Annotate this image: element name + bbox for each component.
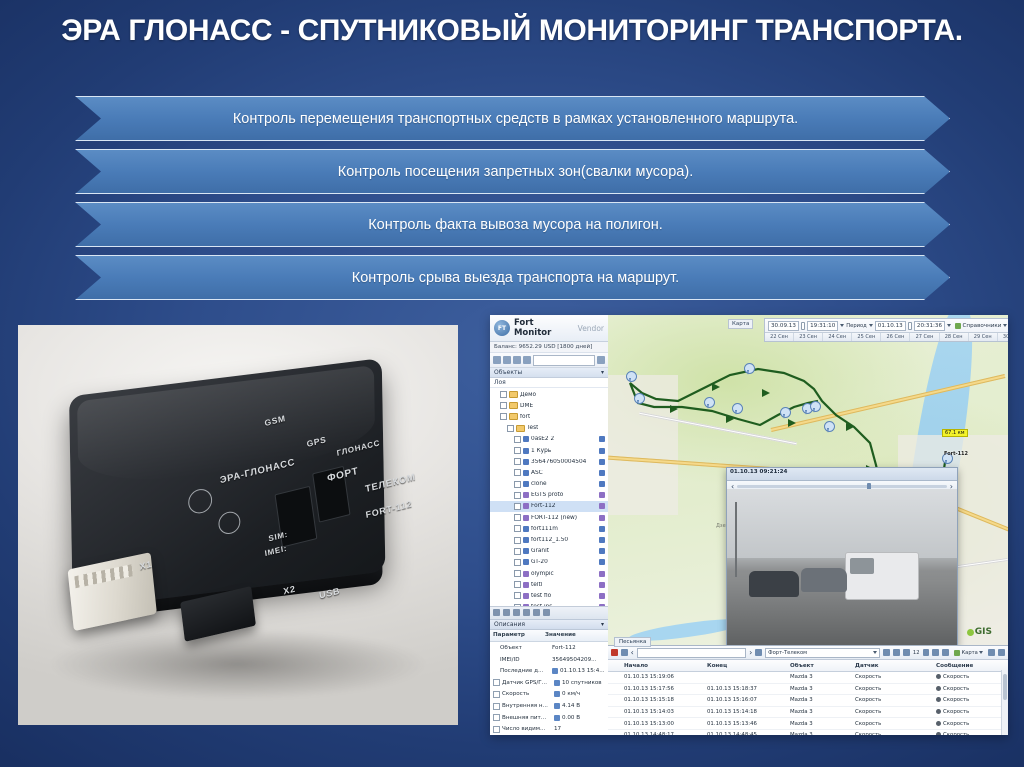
events-prev-icon[interactable]: ‹ bbox=[631, 649, 634, 657]
tree-item[interactable]: Fort-112 bbox=[490, 501, 608, 512]
device-icon bbox=[523, 459, 529, 465]
map-marker-8[interactable] bbox=[810, 401, 819, 413]
properties-header: Описания ▾ bbox=[490, 619, 608, 630]
device-icon bbox=[523, 515, 529, 521]
group-row: Лоя bbox=[490, 378, 608, 388]
tree-item[interactable]: EGTS proto bbox=[490, 490, 608, 501]
tree-item-label: 0asЕ2 2 bbox=[531, 436, 554, 442]
device-icon bbox=[523, 526, 529, 532]
tree-item[interactable]: DME bbox=[490, 400, 608, 411]
objects-toolbar[interactable] bbox=[490, 353, 608, 368]
row-flag-icon bbox=[608, 674, 621, 680]
property-value: 35649504209... bbox=[552, 657, 608, 663]
device-icon bbox=[523, 593, 529, 599]
tree-item-status-icon[interactable] bbox=[599, 515, 605, 521]
tree-item[interactable]: Test bbox=[490, 423, 608, 434]
status-icon-2[interactable] bbox=[503, 609, 510, 616]
col-end: Конец bbox=[704, 663, 787, 669]
row-start: 01.10.13 15:17:56 bbox=[621, 686, 704, 692]
property-row: Внутренняя н...4.14 В bbox=[490, 700, 608, 712]
property-key: Внешняя пит... bbox=[502, 715, 552, 721]
tree-item[interactable]: FORT-112 (new) bbox=[490, 512, 608, 523]
device-icon bbox=[523, 492, 529, 498]
property-checkbox[interactable] bbox=[493, 714, 500, 721]
objects-section-label: Объекты bbox=[494, 369, 522, 376]
device-icon bbox=[523, 436, 529, 442]
photo-popup-timestamp: 01.10.13 09:21:24 bbox=[727, 468, 957, 481]
time-to-value: 20:31:36 bbox=[917, 323, 942, 329]
row-flag-icon bbox=[608, 721, 621, 727]
property-checkbox[interactable] bbox=[493, 679, 500, 686]
status-icon-4[interactable] bbox=[523, 609, 530, 616]
property-key: Внутренняя н... bbox=[502, 703, 552, 709]
device-photo: GSM GPS ГЛОНАСС ЭРА-ГЛОНАСС ФОРТ ТЕЛЕКОМ… bbox=[18, 325, 458, 725]
tree-item[interactable]: test fio bbox=[490, 590, 608, 601]
alert-icon[interactable] bbox=[611, 649, 618, 656]
col-start: Начало bbox=[621, 663, 704, 669]
tree-item-checkbox[interactable] bbox=[514, 592, 521, 599]
property-key: Датчик GPS/Г... bbox=[502, 680, 552, 686]
tree-item-label: Granit bbox=[531, 548, 549, 554]
map-marker-1[interactable] bbox=[626, 371, 635, 383]
row-object: Mazda 3 bbox=[787, 709, 852, 715]
references-chevron-down-icon[interactable] bbox=[1003, 324, 1007, 327]
object-search-input[interactable] bbox=[533, 355, 595, 366]
property-icon bbox=[554, 680, 560, 686]
events-filter-value: Форт-Телеком bbox=[768, 650, 807, 656]
help-icon[interactable] bbox=[998, 649, 1005, 656]
photo-slider[interactable] bbox=[737, 485, 947, 488]
map-marker-6[interactable] bbox=[780, 407, 789, 419]
tree-item-label: Fort-112 bbox=[531, 503, 556, 509]
property-value: Fort-112 bbox=[552, 645, 608, 651]
date-to-value: 01.10.13 bbox=[878, 323, 903, 329]
properties-col-value: Значение bbox=[545, 632, 608, 638]
day-chip[interactable]: 28 Сен bbox=[940, 333, 969, 341]
bullet-label-2: Контроль посещения запретных зон(свалки … bbox=[116, 164, 915, 180]
tree-item-checkbox[interactable] bbox=[514, 525, 521, 532]
map-view[interactable]: 67.1 км Fort-112 Дзержинский Левшино GIS… bbox=[608, 315, 1008, 645]
row-sensor: Скорость bbox=[852, 709, 933, 715]
property-value: 01.10.13 15:4... bbox=[560, 668, 608, 674]
fort-monitor-screenshot: FT Fort Monitor Vendor Баланс: 9652.29 U… bbox=[490, 315, 1008, 735]
palette-icon[interactable] bbox=[893, 649, 900, 656]
folder-icon bbox=[509, 402, 518, 409]
device-body: GSM GPS ГЛОНАСС ЭРА-ГЛОНАСС ФОРТ ТЕЛЕКОМ… bbox=[69, 356, 401, 648]
property-icon bbox=[554, 703, 560, 709]
device-icon bbox=[523, 571, 529, 577]
calendar-to-icon[interactable] bbox=[908, 322, 912, 330]
row-object: Mazda 3 bbox=[787, 721, 852, 727]
status-icon-1[interactable] bbox=[493, 609, 500, 616]
device-icon bbox=[523, 481, 529, 487]
tree-item-checkbox[interactable] bbox=[514, 469, 521, 476]
tree-item[interactable]: 1 Курь bbox=[490, 445, 608, 456]
property-value: 10 спутников bbox=[562, 680, 608, 686]
objects-collapse-icon[interactable]: ▾ bbox=[601, 369, 604, 376]
link-icon[interactable] bbox=[988, 649, 995, 656]
property-icon bbox=[554, 691, 560, 697]
row-flag-icon bbox=[608, 732, 621, 735]
tree-item-checkbox[interactable] bbox=[500, 391, 507, 398]
properties-col-param: Параметр bbox=[493, 632, 543, 638]
tree-item-label: ASC bbox=[531, 470, 543, 476]
map-marker-9[interactable] bbox=[824, 421, 833, 433]
day-chip[interactable]: 24 Сен bbox=[823, 333, 852, 341]
status-icon-3[interactable] bbox=[513, 609, 520, 616]
row-end: 01.10.13 15:14:18 bbox=[704, 709, 787, 715]
references-label: Справочники bbox=[963, 323, 1002, 329]
row-start: 01.10.13 15:13:00 bbox=[621, 721, 704, 727]
app-left-panel: FT Fort Monitor Vendor Баланс: 9652.29 U… bbox=[490, 315, 609, 735]
tree-item-status-icon[interactable] bbox=[599, 436, 605, 442]
tree-item-status-icon[interactable] bbox=[599, 481, 605, 487]
vehicle-name-label: Fort-112 bbox=[944, 451, 968, 457]
period-toolbar[interactable]: 30.09.13 19:31:10 Период 01.10.13 20:31:… bbox=[764, 318, 1008, 342]
row-end: 01.10.13 15:13:46 bbox=[704, 721, 787, 727]
tree-item-checkbox[interactable] bbox=[500, 413, 507, 420]
device-icon bbox=[523, 503, 529, 509]
table-row[interactable]: 01.10.13 15:17:5601.10.13 15:18:37Mazda … bbox=[608, 684, 1008, 696]
bullet-list: Контроль перемещения транспортных средст… bbox=[75, 96, 950, 308]
photo-sky bbox=[727, 489, 957, 558]
tree-item-checkbox[interactable] bbox=[514, 559, 521, 566]
zoom-out-icon[interactable] bbox=[903, 649, 910, 656]
tree-item-status-icon[interactable] bbox=[599, 571, 605, 577]
map-marker-5[interactable] bbox=[732, 403, 741, 415]
day-chip[interactable]: 26 Сен bbox=[881, 333, 910, 341]
group-label: Лоя bbox=[494, 379, 506, 386]
tree-item[interactable]: fort111m bbox=[490, 523, 608, 534]
row-start: 01.10.13 15:19:06 bbox=[621, 674, 704, 680]
references-button[interactable]: Справочники bbox=[953, 323, 1008, 329]
property-row: Внешняя пит...0.00 В bbox=[490, 712, 608, 724]
tree-item-status-icon[interactable] bbox=[599, 593, 605, 599]
row-flag-icon bbox=[608, 709, 621, 715]
property-checkbox[interactable] bbox=[493, 726, 500, 733]
map-button-label: Карта bbox=[961, 650, 977, 656]
tree-item-label: teltl bbox=[531, 582, 542, 588]
day-chip[interactable]: 23 Сен bbox=[794, 333, 823, 341]
property-row: Последние д...01.10.13 15:4... bbox=[490, 665, 608, 677]
tree-item[interactable]: olympic bbox=[490, 568, 608, 579]
time-to-input[interactable]: 20:31:36 bbox=[914, 321, 945, 331]
photo-car-2 bbox=[801, 568, 847, 592]
tree-item-label: EGTS proto bbox=[531, 492, 563, 498]
tree-item-status-icon[interactable] bbox=[599, 470, 605, 476]
device-icon bbox=[523, 470, 529, 476]
tree-item-label: fort111m bbox=[531, 526, 558, 532]
property-row: IMEI/ID35649504209... bbox=[490, 654, 608, 666]
day-chip[interactable]: 22 Сен bbox=[765, 333, 794, 341]
status-icon-5[interactable] bbox=[533, 609, 540, 616]
property-checkbox[interactable] bbox=[493, 691, 500, 698]
property-value: 0.00 В bbox=[562, 715, 608, 721]
expand-icon[interactable] bbox=[513, 356, 521, 364]
row-start: 01.10.13 15:14:03 bbox=[621, 709, 704, 715]
map-chevron-down-icon[interactable] bbox=[979, 651, 983, 654]
tree-item-checkbox[interactable] bbox=[514, 581, 521, 588]
events-filter-chevron-down-icon[interactable] bbox=[873, 651, 877, 654]
tree-item-label: clone bbox=[531, 481, 547, 487]
tree-item-label: fort112_1.50 bbox=[531, 537, 568, 543]
events-search-input[interactable] bbox=[637, 648, 746, 658]
table-row[interactable]: 01.10.13 15:13:0001.10.13 15:13:46Mazda … bbox=[608, 718, 1008, 730]
day-chip-strip[interactable]: 22 Сен23 Сен24 Сен25 Сен26 Сен27 Сен28 С… bbox=[765, 332, 1008, 341]
day-chip[interactable]: 25 Сен bbox=[852, 333, 881, 341]
date-from-value: 30.09.13 bbox=[771, 323, 796, 329]
collapse-icon[interactable] bbox=[523, 356, 531, 364]
property-row: ОбъектFort-112 bbox=[490, 642, 608, 654]
day-chip[interactable]: 30 Сен bbox=[998, 333, 1008, 341]
tree-item-status-icon[interactable] bbox=[599, 503, 605, 509]
tree-item[interactable]: GT-20 bbox=[490, 557, 608, 568]
fort-monitor-logo-icon: FT bbox=[494, 320, 510, 336]
tree-item-checkbox[interactable] bbox=[507, 425, 514, 432]
row-object: Mazda 3 bbox=[787, 686, 852, 692]
photo-pole bbox=[735, 502, 737, 577]
filter-icon[interactable] bbox=[493, 356, 501, 364]
row-sensor: Скорость bbox=[852, 732, 933, 735]
time-from-value: 19:31:10 bbox=[810, 323, 835, 329]
time-from-chevron-down-icon[interactable] bbox=[840, 324, 844, 327]
events-table-header: Начало Конец Объект Датчик Сообщение bbox=[608, 660, 1008, 672]
period-row[interactable]: 30.09.13 19:31:10 Период 01.10.13 20:31:… bbox=[765, 319, 1008, 332]
events-tab[interactable]: Песьянка bbox=[614, 637, 651, 647]
tree-item[interactable]: teltl bbox=[490, 579, 608, 590]
calendar-from-icon[interactable] bbox=[801, 322, 805, 330]
tree-item-label: Test bbox=[527, 425, 538, 431]
bullet-label-1: Контроль перемещения транспортных средст… bbox=[116, 111, 915, 127]
property-row: Скорость0 км/ч bbox=[490, 689, 608, 701]
period-chevron-down-icon[interactable] bbox=[869, 324, 873, 327]
device-icon bbox=[523, 548, 529, 554]
map-marker-4[interactable] bbox=[704, 397, 713, 409]
row-flag-icon bbox=[608, 686, 621, 692]
tree-item-status-icon[interactable] bbox=[599, 548, 605, 554]
tree-item-label: DME bbox=[520, 403, 533, 409]
map-marker-3[interactable] bbox=[744, 363, 753, 375]
list-icon[interactable] bbox=[503, 356, 511, 364]
properties-table: ПараметрЗначениеОбъектFort-112IMEI/ID356… bbox=[490, 630, 608, 735]
vehicle-distance-badge: 67.1 км bbox=[942, 429, 968, 437]
tree-item[interactable]: Granit bbox=[490, 546, 608, 557]
row-object: Mazda 3 bbox=[787, 732, 852, 735]
slide-root: ЭРА ГЛОНАСС - СПУТНИКОВЫЙ МОНИТОРИНГ ТРА… bbox=[0, 0, 1024, 767]
table-row[interactable]: 01.10.13 15:15:1801.10.13 15:16:07Mazda … bbox=[608, 695, 1008, 707]
pin-icon[interactable] bbox=[942, 649, 949, 656]
day-chip[interactable]: 29 Сен bbox=[969, 333, 998, 341]
row-sensor: Скорость bbox=[852, 697, 933, 703]
property-key: Число видим... bbox=[502, 726, 552, 732]
references-icon bbox=[955, 323, 961, 329]
table-row[interactable]: 01.10.13 15:19:06Mazda 3СкоростьСкорость bbox=[608, 672, 1008, 684]
device-icon bbox=[523, 448, 529, 454]
qgis-label: GIS bbox=[975, 627, 992, 637]
tree-item-label: GT-20 bbox=[531, 559, 548, 565]
layout-icon[interactable] bbox=[883, 649, 890, 656]
property-icon bbox=[554, 715, 560, 721]
objects-section-header: Объекты ▾ bbox=[490, 368, 608, 378]
properties-title: Описания bbox=[494, 621, 525, 628]
property-checkbox[interactable] bbox=[493, 703, 500, 710]
table-row[interactable]: 01.10.13 15:14:0301.10.13 15:14:18Mazda … bbox=[608, 707, 1008, 719]
tree-item-checkbox[interactable] bbox=[500, 402, 507, 409]
properties-collapse-icon[interactable]: ▾ bbox=[601, 621, 604, 628]
row-end: 01.10.13 14:48:45 bbox=[704, 732, 787, 735]
find-icon[interactable] bbox=[597, 356, 605, 364]
tree-item[interactable]: Демо bbox=[490, 389, 608, 400]
app-vendor: Vendor bbox=[578, 324, 604, 333]
qgis-watermark: GIS bbox=[967, 627, 992, 637]
row-message: Скорость bbox=[933, 709, 1008, 715]
zoom-in-icon[interactable] bbox=[923, 649, 930, 656]
checkbox-icon[interactable] bbox=[621, 649, 628, 656]
bullet-item-1: Контроль перемещения транспортных средст… bbox=[75, 96, 950, 141]
property-icon bbox=[552, 668, 558, 674]
tree-item-status-icon[interactable] bbox=[599, 537, 605, 543]
device-icon bbox=[523, 582, 529, 588]
property-key: IMEI/ID bbox=[500, 657, 550, 663]
row-end: 01.10.13 15:16:07 bbox=[704, 697, 787, 703]
property-row: Датчик GPS/Г...10 спутников bbox=[490, 677, 608, 689]
tree-item[interactable]: fort112_1.50 bbox=[490, 534, 608, 545]
tree-item-label: olympic bbox=[531, 571, 554, 577]
col-object: Объект bbox=[787, 663, 852, 669]
folder-icon bbox=[509, 413, 518, 420]
bullet-label-3: Контроль факта вывоза мусора на полигон. bbox=[116, 217, 915, 233]
tree-item-status-icon[interactable] bbox=[599, 492, 605, 498]
tree-item-checkbox[interactable] bbox=[514, 458, 521, 465]
tree-item-checkbox[interactable] bbox=[514, 436, 521, 443]
tree-item[interactable]: fort bbox=[490, 411, 608, 422]
col-sensor: Датчик bbox=[852, 663, 933, 669]
row-flag-icon bbox=[608, 697, 621, 703]
tree-item-status-icon[interactable] bbox=[599, 582, 605, 588]
tree-item-checkbox[interactable] bbox=[514, 503, 521, 510]
events-grid-icon[interactable] bbox=[755, 649, 762, 656]
bullet-label-4: Контроль срыва выезда транспорта на марш… bbox=[116, 270, 915, 286]
app-brand-bar: FT Fort Monitor Vendor bbox=[490, 315, 608, 342]
property-key: Последние д... bbox=[500, 668, 550, 674]
tree-item-label: test fio bbox=[531, 593, 551, 599]
object-tree[interactable]: ДемоDMEfortTest0asЕ2 21 Курь356476050004… bbox=[490, 388, 608, 606]
tree-item-checkbox[interactable] bbox=[514, 570, 521, 577]
app-status-bar bbox=[490, 606, 608, 619]
tree-item-label: 356476050004504 bbox=[531, 459, 586, 465]
map-tab[interactable]: Карта bbox=[728, 319, 753, 329]
page-title: ЭРА ГЛОНАСС - СПУТНИКОВЫЙ МОНИТОРИНГ ТРА… bbox=[0, 14, 1024, 48]
photo-van bbox=[845, 552, 919, 600]
folder-icon bbox=[509, 391, 518, 398]
time-to-chevron-down-icon[interactable] bbox=[947, 324, 951, 327]
tree-item[interactable]: 0asЕ2 2 bbox=[490, 434, 608, 445]
tree-item-checkbox[interactable] bbox=[514, 514, 521, 521]
bullet-item-4: Контроль срыва выезда транспорта на марш… bbox=[75, 255, 950, 300]
row-message: Скорость bbox=[933, 674, 1008, 680]
time-from-input[interactable]: 19:31:10 bbox=[807, 321, 838, 331]
properties-column-header: ПараметрЗначение bbox=[490, 630, 608, 643]
property-value: 4.14 В bbox=[562, 703, 608, 709]
property-row: Число видим...17 bbox=[490, 723, 608, 735]
events-filter-select[interactable]: Форт-Телеком bbox=[765, 648, 880, 658]
property-key: Объект bbox=[500, 645, 550, 651]
property-value: 0 км/ч bbox=[562, 691, 608, 697]
tree-item-status-icon[interactable] bbox=[599, 559, 605, 565]
row-sensor: Скорость bbox=[852, 686, 933, 692]
tree-item-checkbox[interactable] bbox=[514, 447, 521, 454]
events-next-icon[interactable]: › bbox=[749, 649, 752, 657]
table-row[interactable]: 01.10.13 14:48:1701.10.13 14:48:45Mazda … bbox=[608, 730, 1008, 735]
tree-item[interactable]: clone bbox=[490, 479, 608, 490]
tree-item-label: fort bbox=[520, 414, 530, 420]
photo-popup-image bbox=[727, 489, 957, 645]
row-start: 01.10.13 14:48:17 bbox=[621, 732, 704, 735]
tree-item-checkbox[interactable] bbox=[514, 548, 521, 555]
tree-item-checkbox[interactable] bbox=[514, 492, 521, 499]
tree-item-label: Демо bbox=[520, 392, 536, 398]
tree-item-status-icon[interactable] bbox=[599, 459, 605, 465]
row-object: Mazda 3 bbox=[787, 697, 852, 703]
device-label-x2: X2 bbox=[283, 584, 297, 597]
row-message: Скорость bbox=[933, 686, 1008, 692]
device-icon bbox=[523, 559, 529, 565]
events-panel: Песьянка ‹ › Форт-Телеком 12 bbox=[608, 645, 1008, 735]
events-table-body[interactable]: 01.10.13 15:19:06Mazda 3СкоростьСкорость… bbox=[608, 672, 1008, 735]
date-to-input[interactable]: 01.10.13 bbox=[875, 321, 906, 331]
map-marker-2[interactable] bbox=[634, 393, 643, 405]
status-icon-6[interactable] bbox=[543, 609, 550, 616]
row-sensor: Скорость bbox=[852, 721, 933, 727]
bullet-item-2: Контроль посещения запретных зон(свалки … bbox=[75, 149, 950, 194]
qgis-dot-icon bbox=[967, 629, 974, 636]
tree-item[interactable]: ASC bbox=[490, 467, 608, 478]
tree-item-label: 1 Курь bbox=[531, 448, 551, 454]
map-select-button[interactable]: Карта bbox=[952, 650, 985, 656]
row-end: 01.10.13 15:18:37 bbox=[704, 686, 787, 692]
row-sensor: Скорость bbox=[852, 674, 933, 680]
row-message: Скорость bbox=[933, 732, 1008, 735]
tree-item-status-icon[interactable] bbox=[599, 448, 605, 454]
photo-popup-window[interactable]: 01.10.13 09:21:24 ‹ › bbox=[726, 467, 958, 645]
property-key: Скорость bbox=[502, 691, 552, 697]
map-icon bbox=[954, 650, 960, 656]
row-start: 01.10.13 15:15:18 bbox=[621, 697, 704, 703]
tree-item-status-icon[interactable] bbox=[599, 526, 605, 532]
events-toolbar[interactable]: ‹ › Форт-Телеком 12 Карта bbox=[608, 646, 1008, 660]
route-icon[interactable] bbox=[932, 649, 939, 656]
tree-item-checkbox[interactable] bbox=[514, 537, 521, 544]
row-message: Скорость bbox=[933, 697, 1008, 703]
period-label: Период bbox=[846, 323, 867, 329]
folder-icon bbox=[516, 425, 525, 432]
zoom-level: 12 bbox=[913, 650, 920, 656]
day-chip[interactable]: 27 Сен bbox=[910, 333, 939, 341]
col-message: Сообщение bbox=[933, 663, 1008, 669]
tree-item[interactable]: 356476050004504 bbox=[490, 456, 608, 467]
account-balance: Баланс: 9652.29 USD [1800 дней] bbox=[490, 342, 608, 353]
photo-car-1 bbox=[749, 571, 799, 597]
row-object: Mazda 3 bbox=[787, 674, 852, 680]
events-scrollbar[interactable] bbox=[1001, 670, 1008, 735]
row-message: Скорость bbox=[933, 721, 1008, 727]
tree-item-label: FORT-112 (new) bbox=[531, 515, 577, 521]
tree-item-checkbox[interactable] bbox=[514, 481, 521, 488]
app-name: Fort Monitor bbox=[514, 318, 574, 338]
bullet-item-3: Контроль факта вывоза мусора на полигон. bbox=[75, 202, 950, 247]
date-from-input[interactable]: 30.09.13 bbox=[768, 321, 799, 331]
property-value: 17 bbox=[554, 726, 608, 732]
